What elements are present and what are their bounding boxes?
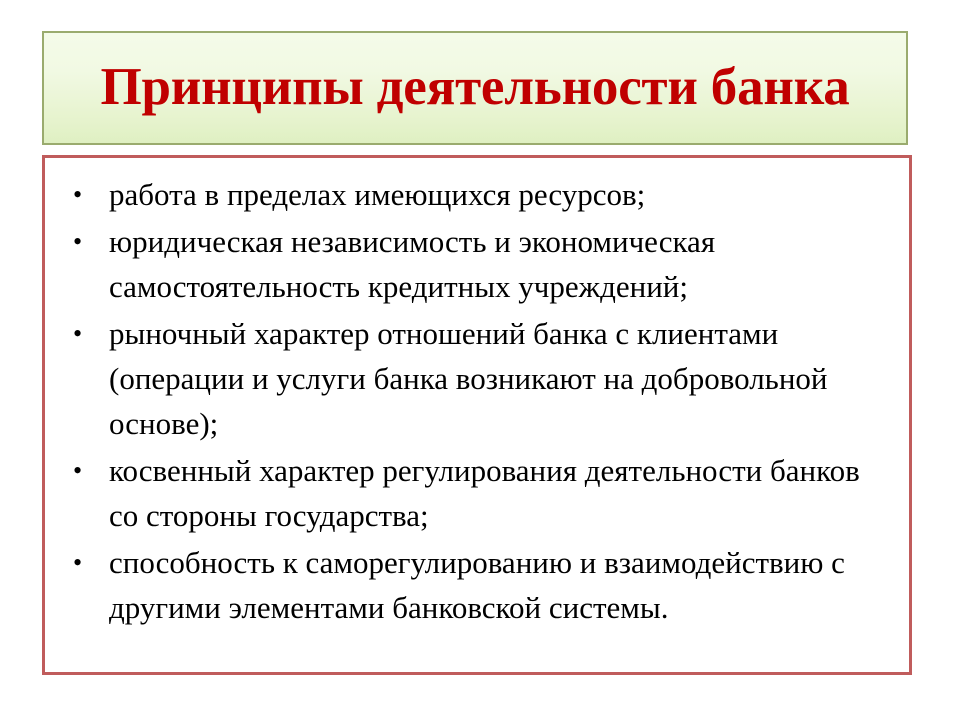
page-title: Принципы деятельности банка — [92, 60, 857, 115]
bullet-dot-icon: • — [73, 448, 95, 493]
list-item: • косвенный характер регулирования деяте… — [59, 448, 895, 538]
bullet-dot-icon: • — [73, 540, 95, 585]
list-item-label: работа в пределах имеющихся ресурсов; — [109, 172, 889, 217]
list-item: • работа в пределах имеющихся ресурсов; — [59, 172, 895, 217]
list-item-label: юридическая независимость и экономическа… — [109, 219, 889, 309]
slide-content-box: • работа в пределах имеющихся ресурсов; … — [42, 155, 912, 675]
list-item: • способность к саморегулированию и взаи… — [59, 540, 895, 630]
principles-list: • работа в пределах имеющихся ресурсов; … — [59, 172, 895, 630]
presentation-slide: Принципы деятельности банка • работа в п… — [0, 0, 960, 720]
bullet-dot-icon: • — [73, 311, 95, 356]
bullet-dot-icon: • — [73, 172, 95, 217]
list-item: • рыночный характер отношений банка с кл… — [59, 311, 895, 446]
list-item-label: способность к саморегулированию и взаимо… — [109, 540, 889, 630]
list-item-label: косвенный характер регулирования деятель… — [109, 448, 889, 538]
bullet-dot-icon: • — [73, 219, 95, 264]
list-item: • юридическая независимость и экономичес… — [59, 219, 895, 309]
list-item-label: рыночный характер отношений банка с клие… — [109, 311, 889, 446]
slide-title-box: Принципы деятельности банка — [42, 31, 908, 145]
